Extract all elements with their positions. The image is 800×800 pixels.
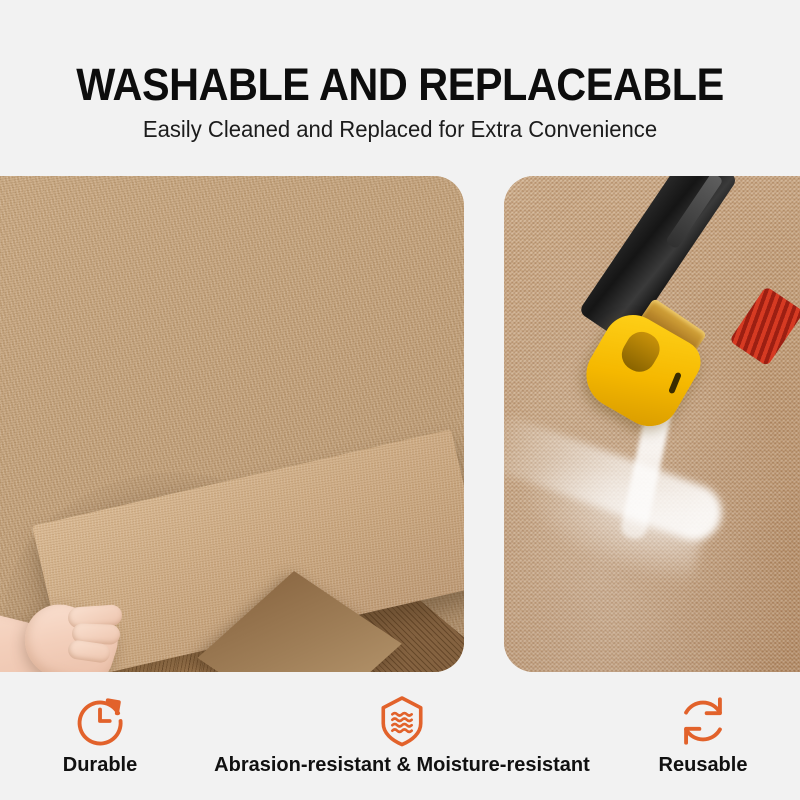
page-title: WASHABLE AND REPLACEABLE bbox=[32, 60, 768, 110]
feature-label: Abrasion-resistant & Moisture-resistant bbox=[196, 754, 608, 777]
feature-label: Reusable bbox=[612, 754, 794, 777]
shield-waves-icon bbox=[196, 692, 608, 750]
feature-item-reusable: Reusable bbox=[612, 672, 794, 777]
feature-bar: Durable Abrasion-resistant & Moisture-re… bbox=[0, 672, 800, 800]
reuse-cycle-icon bbox=[612, 692, 794, 750]
clock-refresh-icon bbox=[8, 692, 192, 750]
pressure-washer-cleaning-photo bbox=[504, 176, 800, 672]
feature-label: Durable bbox=[8, 754, 192, 777]
page-subtitle: Easily Cleaned and Replaced for Extra Co… bbox=[16, 115, 784, 143]
feature-item-durable: Durable bbox=[8, 672, 192, 777]
carpet-tile-lift-photo bbox=[0, 176, 464, 672]
feature-item-resistance: Abrasion-resistant & Moisture-resistant bbox=[196, 672, 608, 777]
image-panel-group bbox=[0, 176, 800, 672]
header-banner: WASHABLE AND REPLACEABLE Easily Cleaned … bbox=[0, 0, 800, 176]
